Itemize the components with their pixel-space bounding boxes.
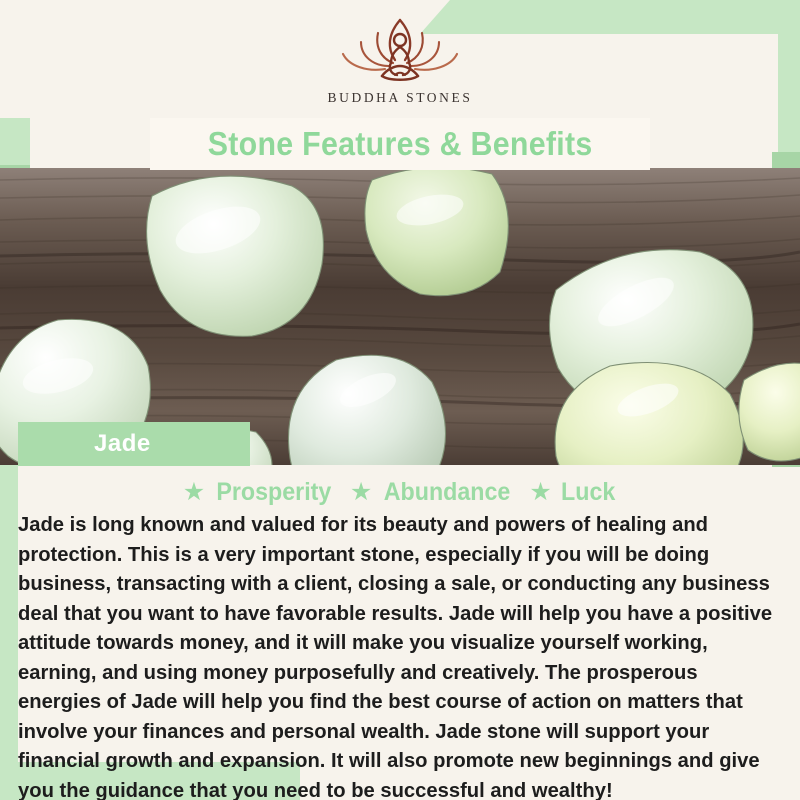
stone-name: Jade bbox=[94, 430, 151, 458]
star-icon: ★ bbox=[350, 480, 372, 505]
decor-left-lower-green-strip bbox=[0, 465, 18, 765]
lotus-meditation-icon bbox=[325, 14, 475, 86]
keyword-item: ★ Abundance bbox=[350, 478, 516, 507]
stone-photo bbox=[0, 168, 800, 465]
brand-header: BUDDHA STONES bbox=[0, 0, 800, 120]
keyword-label: Prosperity bbox=[217, 478, 332, 507]
page-title: Stone Features & Benefits bbox=[208, 125, 593, 163]
title-banner: Stone Features & Benefits bbox=[150, 118, 650, 170]
keyword-item: ★ Luck bbox=[529, 478, 617, 507]
star-icon: ★ bbox=[529, 480, 551, 505]
keyword-label: Abundance bbox=[384, 478, 511, 507]
keyword-list: ★ Prosperity ★ Abundance ★ Luck bbox=[0, 478, 800, 507]
brand-name: BUDDHA STONES bbox=[328, 90, 473, 106]
stone-info-card: BUDDHA STONES Stone Features & Benefits bbox=[0, 0, 800, 800]
keyword-label: Luck bbox=[561, 478, 615, 507]
keyword-item: ★ Prosperity bbox=[183, 478, 336, 507]
description-block: Jade is long known and valued for its be… bbox=[18, 510, 788, 800]
decor-title-left-green-nub bbox=[0, 118, 30, 168]
stone-name-band: Jade bbox=[18, 422, 250, 466]
star-icon: ★ bbox=[183, 480, 205, 505]
description-text: Jade is long known and valued for its be… bbox=[18, 510, 776, 800]
